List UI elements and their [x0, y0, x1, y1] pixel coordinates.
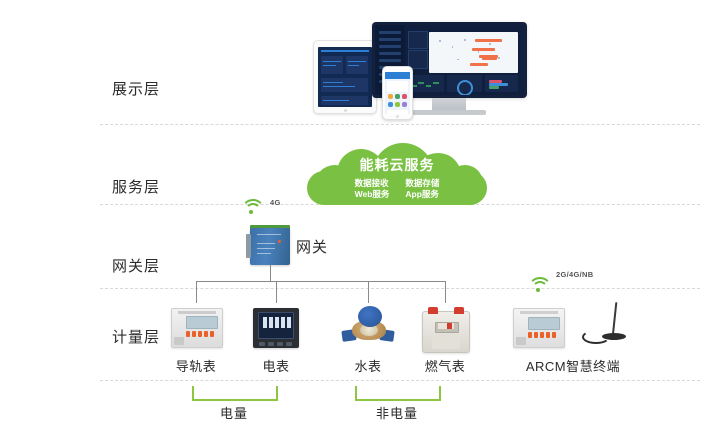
connector-bus [196, 281, 446, 282]
gas-meter-icon [422, 311, 470, 353]
group-label-electricity: 电量 [193, 403, 275, 422]
gateway-label: 网关 [296, 236, 328, 257]
dashboard-map [429, 32, 518, 73]
monitor-base [412, 110, 486, 115]
gateway-network-label: 4G [270, 198, 281, 207]
connector-drop-2 [276, 281, 277, 303]
water-meter-icon [342, 306, 394, 348]
layer-separator-1 [100, 124, 700, 125]
group-bracket-electricity [192, 386, 278, 401]
cloud-service-data-storage: 数据存储 [405, 178, 439, 189]
din-rail-meter-icon [171, 308, 223, 348]
layer-separator-3 [100, 288, 700, 289]
connector-drop-1 [196, 281, 197, 303]
phone-home-button [396, 115, 399, 118]
layer-label-gateway: 网关层 [112, 255, 160, 276]
terminal-network-label: 2G/4G/NB [556, 270, 593, 279]
gateway-connector [246, 234, 251, 258]
connector-drop-3 [368, 281, 369, 303]
electricity-meter-icon [253, 308, 299, 348]
terminal-label: ARCM智慧终端 [503, 356, 643, 375]
device-label-water-meter: 水表 [328, 356, 408, 375]
tablet-screen [318, 47, 372, 107]
connector-drop-4 [445, 281, 446, 303]
gateway-device-icon [250, 228, 290, 265]
layer-label-metering: 计量层 [112, 326, 160, 347]
layer-label-service: 服务层 [112, 176, 160, 197]
layer-label-presentation: 展示层 [112, 78, 160, 99]
tablet-icon [313, 40, 377, 114]
cloud-service-app: App服务 [405, 189, 439, 200]
antenna-icon [596, 302, 632, 346]
cloud-title: 能耗云服务 [307, 155, 487, 175]
device-label-electricity-meter: 电表 [236, 356, 316, 375]
cloud-service-web: Web服务 [355, 189, 390, 200]
smartphone-icon [382, 66, 413, 120]
architecture-diagram: 展示层 服务层 网关层 计量层 [0, 0, 715, 443]
cloud-service: 能耗云服务 数据接收 Web服务 数据存储 App服务 [307, 143, 487, 205]
tablet-home-button [344, 109, 347, 112]
wifi-icon [241, 199, 263, 215]
device-label-din-rail-meter: 导轨表 [156, 356, 236, 375]
cloud-service-data-receive: 数据接收 [355, 178, 390, 189]
arcm-terminal-icon [513, 308, 565, 348]
connector-gateway-trunk [270, 265, 271, 281]
terminal-wifi-icon [528, 277, 550, 293]
group-bracket-non-electricity [355, 386, 441, 401]
layer-separator-4 [100, 380, 700, 381]
phone-screen [385, 72, 410, 114]
device-label-gas-meter: 燃气表 [405, 356, 485, 375]
group-label-non-electricity: 非电量 [356, 403, 438, 422]
